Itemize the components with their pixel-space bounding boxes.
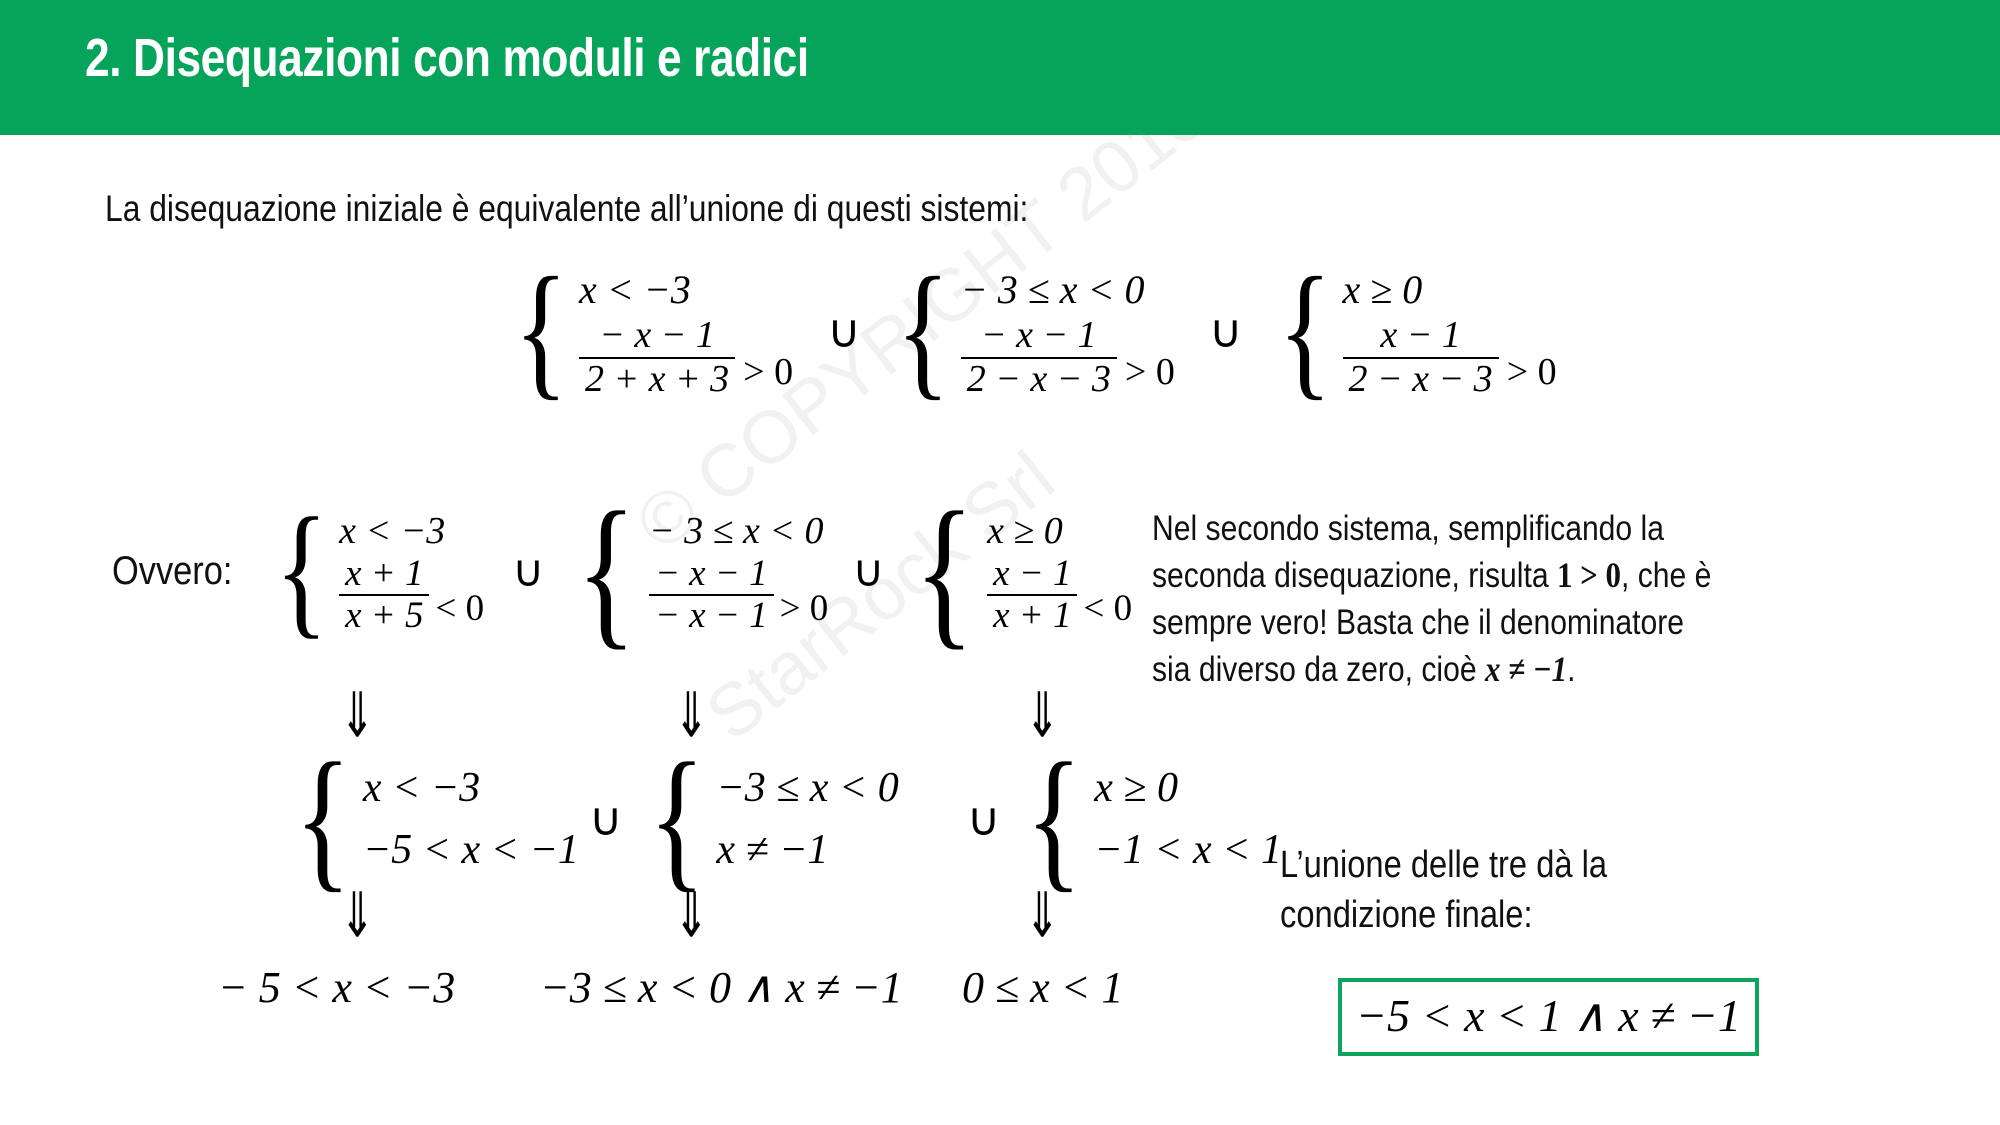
- left-brace: {: [1026, 752, 1083, 886]
- fraction-denominator: x + 5: [339, 594, 429, 636]
- page-title: 2. Disequazioni con moduli e radici: [85, 27, 809, 89]
- row1-sys3-line1: x ≥ 0: [1343, 266, 1423, 313]
- conclusion-line-2: condizione finale:: [1280, 890, 1607, 940]
- row1-system-3: { x ≥ 0 x − 1 2 − x − 3 > 0: [1269, 262, 1557, 400]
- fraction-numerator: − x − 1: [975, 316, 1103, 357]
- left-brace: {: [915, 500, 975, 643]
- row1-sys1-line1: x < −3: [579, 266, 691, 313]
- final-answer: −5 < x < 1 ∧ x ≠ −1: [1356, 990, 1741, 1041]
- fraction-denominator: x + 1: [987, 594, 1077, 636]
- ovvero-label: Ovvero:: [112, 549, 232, 594]
- fraction-denominator: − x − 1: [649, 594, 774, 636]
- row3-sys1-line1: x < −3: [363, 764, 480, 812]
- fraction-numerator: − x − 1: [593, 316, 721, 357]
- row1-sys2-relation: > 0: [1125, 350, 1175, 394]
- row3-sys3-line2: −1 < x < 1: [1094, 826, 1282, 874]
- implication-arrow-5: ⇓: [674, 879, 709, 952]
- fraction-numerator: x + 1: [339, 555, 429, 595]
- row1-systems: { x < −3 − x − 1 2 + x + 3 > 0 ∪ { − 3 ≤…: [505, 262, 1557, 400]
- union-symbol: ∪: [1209, 304, 1243, 358]
- implication-arrow-4: ⇓: [340, 879, 375, 952]
- row2-system-1: { x < −3 x + 1 x + 5 < 0: [266, 507, 484, 637]
- row3-system-3: { x ≥ 0 −1 < x < 1: [1016, 752, 1282, 886]
- final-answer-box: −5 < x < 1 ∧ x ≠ −1: [1338, 978, 1759, 1056]
- row3-sys3-line1: x ≥ 0: [1094, 764, 1178, 812]
- fraction-numerator: x − 1: [1374, 316, 1467, 357]
- row2-sys2-line1: − 3 ≤ x < 0: [649, 509, 824, 553]
- row1-sys1-fraction: − x − 1 2 + x + 3: [579, 316, 735, 400]
- union-symbol: ∪: [512, 546, 544, 597]
- row1-system-1: { x < −3 − x − 1 2 + x + 3 > 0: [505, 262, 793, 400]
- result-2: −3 ≤ x < 0 ∧ x ≠ −1: [540, 962, 903, 1013]
- row3-systems: { x < −3 −5 < x < −1 ∪ { −3 ≤ x < 0 x ≠ …: [285, 752, 1282, 886]
- left-brace: {: [1278, 267, 1332, 395]
- row2-sys2-fraction: − x − 1 − x − 1: [649, 555, 774, 637]
- left-brace: {: [896, 267, 950, 395]
- fraction-numerator: − x − 1: [649, 555, 774, 595]
- row1-sys2-fraction: − x − 1 2 − x − 3: [961, 316, 1117, 400]
- row1-sys3-relation: > 0: [1507, 350, 1557, 394]
- row3-sys2-line1: −3 ≤ x < 0: [716, 764, 898, 812]
- row2-sys2-relation: > 0: [780, 587, 829, 630]
- left-brace: {: [294, 752, 351, 886]
- note-line-4-suffix: .: [1567, 650, 1575, 689]
- intro-text: La disequazione iniziale è equivalente a…: [105, 188, 1028, 230]
- union-symbol: ∪: [589, 792, 623, 846]
- note-line-1: Nel secondo sistema, semplificando la: [1152, 505, 1711, 552]
- row2-sys3-fraction: x − 1 x + 1: [987, 555, 1077, 637]
- note-line-2-suffix: , che è: [1621, 556, 1711, 595]
- row3-system-1: { x < −3 −5 < x < −1: [285, 752, 579, 886]
- result-1: − 5 < x < −3: [218, 962, 455, 1013]
- left-brace: {: [648, 752, 705, 886]
- note-block: Nel secondo sistema, semplificando la se…: [1152, 505, 1802, 693]
- row3-system-2: { −3 ≤ x < 0 x ≠ −1: [639, 752, 899, 886]
- note-line-2-prefix: seconda disequazione, risulta: [1152, 556, 1557, 595]
- row1-sys3-fraction: x − 1 2 − x − 3: [1343, 316, 1499, 400]
- row1-sys2-line1: − 3 ≤ x < 0: [961, 266, 1145, 313]
- left-brace: {: [514, 267, 568, 395]
- row2-sys1-fraction: x + 1 x + 5: [339, 555, 429, 637]
- fraction-numerator: x − 1: [987, 555, 1077, 595]
- row2-sys3-relation: < 0: [1083, 587, 1132, 630]
- conclusion-line-1: L’unione delle tre dà la: [1280, 840, 1607, 890]
- row1-sys1-relation: > 0: [743, 350, 793, 394]
- header-banner: 2. Disequazioni con moduli e radici: [0, 0, 2000, 135]
- conclusion-block: L’unione delle tre dà la condizione fina…: [1280, 840, 1660, 940]
- row2-system-2: { − 3 ≤ x < 0 − x − 1 − x − 1 > 0: [566, 500, 828, 643]
- note-line-4: sia diverso da zero, cioè x ≠ −1.: [1152, 646, 1711, 693]
- note-line-2: seconda disequazione, risulta 1 > 0, che…: [1152, 552, 1711, 599]
- union-symbol: ∪: [827, 304, 861, 358]
- row2-sys3-line1: x ≥ 0: [987, 509, 1063, 553]
- row3-sys1-line2: −5 < x < −1: [363, 826, 579, 874]
- row1-system-2: { − 3 ≤ x < 0 − x − 1 2 − x − 3 > 0: [887, 262, 1175, 400]
- fraction-denominator: 2 + x + 3: [579, 357, 735, 400]
- note-line-3: sempre vero! Basta che il denominatore: [1152, 599, 1711, 646]
- row2-sys1-line1: x < −3: [339, 509, 445, 553]
- note-inline-math-1: 1 > 0: [1557, 555, 1621, 595]
- left-brace: {: [576, 500, 636, 643]
- left-brace: {: [275, 508, 328, 634]
- result-3: 0 ≤ x < 1: [962, 962, 1123, 1013]
- row2-system-3: { x ≥ 0 x − 1 x + 1 < 0: [904, 500, 1132, 643]
- row3-sys2-line2: x ≠ −1: [716, 826, 828, 874]
- union-symbol: ∪: [852, 546, 884, 597]
- fraction-denominator: 2 − x − 3: [961, 357, 1117, 400]
- note-inline-math-2: x ≠ −1: [1485, 649, 1567, 689]
- row2-sys1-relation: < 0: [435, 587, 484, 630]
- row2-systems: Ovvero: { x < −3 x + 1 x + 5 < 0 ∪ { − 3…: [112, 500, 1132, 643]
- fraction-denominator: 2 − x − 3: [1343, 357, 1499, 400]
- implication-arrow-6: ⇓: [1025, 879, 1060, 952]
- note-line-4-prefix: sia diverso da zero, cioè: [1152, 650, 1485, 689]
- union-symbol: ∪: [967, 792, 1001, 846]
